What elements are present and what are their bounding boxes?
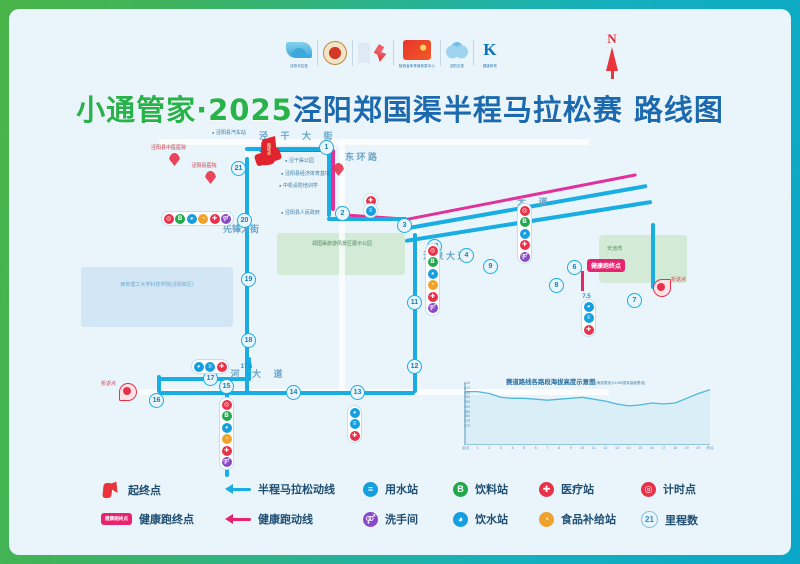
route-blue-seg bbox=[327, 147, 331, 217]
water-use-icon: ≡ bbox=[363, 482, 378, 497]
legend-medical: ✚ 医疗站 bbox=[539, 481, 594, 497]
legend-health-finish: 健康跑终点 健康跑终点 bbox=[101, 511, 194, 527]
legend-distance-marker: 21 里程数 bbox=[641, 511, 698, 528]
chart-x-tick: 19 bbox=[685, 446, 689, 450]
poi-hospital-county: 泾阳县医院 bbox=[189, 163, 219, 169]
road-strip bbox=[339, 141, 345, 397]
restroom-icon[interactable]: ⚤ bbox=[222, 457, 232, 467]
timing-icon[interactable]: ◎ bbox=[164, 214, 174, 224]
water-drop-icon[interactable]: ◕ bbox=[194, 362, 204, 372]
timing-icon[interactable]: ◎ bbox=[222, 400, 232, 410]
legend-health-run: 健康跑动线 bbox=[225, 511, 313, 527]
food-icon[interactable]: ◔ bbox=[428, 280, 438, 290]
chart-x-tick: 1 bbox=[477, 446, 479, 450]
km-marker[interactable]: 13 bbox=[350, 385, 365, 400]
timing-icon[interactable]: ◎ bbox=[428, 246, 438, 256]
wave-mark-icon bbox=[286, 39, 312, 61]
chart-x-tick: 16 bbox=[650, 446, 654, 450]
elevation-line-svg bbox=[466, 383, 710, 445]
jingyang-marathon-logo: 泾阳马拉松 bbox=[281, 32, 317, 74]
road-strip bbox=[159, 139, 589, 145]
blue-arrow-icon bbox=[225, 483, 251, 495]
km-marker[interactable]: 14 bbox=[286, 385, 301, 400]
service-strip-km13[interactable]: ◕ ≡ ✚ bbox=[347, 405, 362, 443]
chart-x-tick: 9 bbox=[570, 446, 572, 450]
title-part-1: 小通管家·2025 bbox=[76, 93, 293, 127]
sponsor-logo-row: 泾阳马拉松 陕西省体育局竞赛中心 泾阳文旅 K 健康体育 bbox=[281, 31, 543, 75]
chart-x-tick: 6 bbox=[535, 446, 537, 450]
legend-label: 洗手间 bbox=[385, 511, 418, 527]
legend-label: 半程马拉松动线 bbox=[258, 481, 335, 497]
legend-water-station: ◕ 饮水站 bbox=[453, 511, 508, 527]
restroom-icon[interactable]: ⚤ bbox=[221, 214, 231, 224]
compass-stem bbox=[611, 69, 614, 79]
route-blue-seg bbox=[159, 377, 209, 381]
page-title: 小通管家·2025泾阳郑国渠半程马拉松赛 路线图 bbox=[9, 87, 791, 129]
hospital-pin-icon bbox=[205, 171, 216, 184]
km-marker[interactable]: 3 bbox=[397, 218, 412, 233]
food-icon[interactable]: ◔ bbox=[222, 434, 232, 444]
chart-x-tick: 2 bbox=[488, 446, 490, 450]
legend-label: 起终点 bbox=[128, 482, 161, 498]
km-marker[interactable]: 2 bbox=[335, 206, 350, 221]
compass-label: N bbox=[600, 31, 624, 47]
km-marker[interactable]: 15 bbox=[219, 379, 234, 394]
jingyang-culture-tourism-logo: 泾阳文旅 bbox=[441, 32, 473, 74]
medical-cross-icon[interactable]: ✚ bbox=[520, 240, 530, 250]
legend-food-supply: ◔ 食品补给站 bbox=[539, 511, 616, 527]
water-use-icon[interactable]: ≡ bbox=[350, 419, 360, 429]
legend-label: 里程数 bbox=[665, 512, 698, 528]
drink-icon[interactable]: B bbox=[428, 257, 438, 267]
athletics-association-seal-logo bbox=[318, 32, 352, 74]
cloud-icon bbox=[446, 39, 468, 61]
water-use-icon[interactable]: ≡ bbox=[366, 206, 376, 216]
organizer-red-logo: 陕西省体育局竞赛中心 bbox=[394, 32, 440, 74]
title-part-2: 泾阳郑国渠半程马拉松赛 路线图 bbox=[293, 93, 724, 127]
poi-hospital-tcm: 泾阳县中医医院 bbox=[151, 145, 185, 151]
poi-government: 泾阳县人民政府 bbox=[281, 209, 320, 216]
poi-green-park: 郑国渠旅游风景区展示公园 bbox=[301, 241, 383, 248]
compass-arrow-icon bbox=[606, 47, 618, 71]
chart-x-tick: 14 bbox=[627, 446, 631, 450]
chart-x-tick: 13 bbox=[615, 446, 619, 450]
chart-x-tick: 20 bbox=[696, 446, 700, 450]
medical-cross-icon[interactable]: ✚ bbox=[584, 325, 594, 335]
route-blue-seg bbox=[157, 375, 161, 393]
chart-x-tick: 起点 bbox=[462, 446, 469, 451]
medical-cross-icon[interactable]: ✚ bbox=[428, 292, 438, 302]
legend-label: 饮水站 bbox=[475, 511, 508, 527]
legend-label: 食品补给站 bbox=[561, 511, 616, 527]
timing-icon: ◎ bbox=[641, 482, 656, 497]
service-strip-km5[interactable]: ◎ B ◕ ✚ ⚤ bbox=[517, 203, 532, 264]
chart-x-tick: 17 bbox=[662, 446, 666, 450]
campus-area bbox=[81, 267, 233, 327]
poi-museum: 中机设防培训学 bbox=[279, 182, 318, 189]
service-strip-km2b[interactable]: ≡ bbox=[363, 203, 378, 218]
chart-plot-area bbox=[466, 383, 710, 445]
km-marker[interactable]: 12 bbox=[407, 359, 422, 374]
legend-drink-station: B 饮料站 bbox=[453, 481, 508, 497]
start-arrow-icon bbox=[101, 481, 121, 499]
km-marker[interactable]: 19 bbox=[241, 272, 256, 287]
drink-icon[interactable]: B bbox=[222, 411, 232, 421]
medical-cross-icon[interactable]: ✚ bbox=[217, 362, 227, 372]
map-legend: 起终点 健康跑终点 健康跑终点 半程马拉松动线 健康跑动线 ≡ 用水站 ⚤ 洗手… bbox=[101, 477, 721, 539]
chart-x-tick: 12 bbox=[603, 446, 607, 450]
water-drop-icon[interactable]: ◕ bbox=[187, 214, 197, 224]
legend-timing-point: ◎ 计时点 bbox=[641, 481, 696, 497]
start-finish-label: 起终点 bbox=[266, 143, 272, 155]
legend-label: 计时点 bbox=[663, 481, 696, 497]
food-icon[interactable]: ◔ bbox=[198, 214, 208, 224]
hospital-pin-icon bbox=[169, 153, 180, 166]
turnaround-point-right[interactable] bbox=[653, 279, 671, 295]
km-marker-half[interactable]: 17.5 bbox=[241, 361, 252, 372]
finish-badge-stem bbox=[581, 271, 584, 291]
food-icon: ◔ bbox=[539, 512, 554, 527]
seal-icon bbox=[323, 42, 347, 64]
water-drop-icon[interactable]: ◕ bbox=[350, 408, 360, 418]
km-marker[interactable]: 18 bbox=[241, 333, 256, 348]
poi-blue-school: 西安理工大学科技学院(泾阳校区) bbox=[91, 281, 223, 289]
poi-green-right: 天池湾 bbox=[607, 245, 622, 252]
km-marker[interactable]: 7 bbox=[627, 293, 642, 308]
restroom-icon: ⚤ bbox=[363, 512, 378, 527]
compass-north: N bbox=[600, 31, 624, 91]
medical-cross-icon[interactable]: ✚ bbox=[222, 446, 232, 456]
legend-label: 健康跑动线 bbox=[258, 511, 313, 527]
china-athletics-logo bbox=[353, 32, 393, 74]
km-bubble-icon: 21 bbox=[641, 511, 658, 528]
legend-label: 医疗站 bbox=[561, 481, 594, 497]
drink-icon: B bbox=[453, 482, 468, 497]
medical-cross-icon: ✚ bbox=[539, 482, 554, 497]
restroom-icon[interactable]: ⚤ bbox=[428, 303, 438, 313]
water-use-icon[interactable]: ≡ bbox=[584, 313, 594, 323]
road-label-east-ring: 东 环 路 bbox=[345, 151, 353, 163]
medical-cross-icon[interactable]: ✚ bbox=[350, 431, 360, 441]
k-letter-icon: K bbox=[479, 39, 501, 61]
chart-x-tick: 终点 bbox=[706, 446, 713, 451]
km-marker[interactable]: 21 bbox=[231, 161, 246, 176]
legend-label: 用水站 bbox=[385, 481, 418, 497]
poster-frame: 泾阳马拉松 陕西省体育局竞赛中心 泾阳文旅 K 健康体育 小通管家·2025泾阳… bbox=[9, 9, 791, 555]
service-strip-km10[interactable]: ◎ B ◕ ◔ ✚ ⚤ bbox=[425, 243, 440, 316]
logo-caption: 健康体育 bbox=[483, 63, 497, 68]
drink-icon[interactable]: B bbox=[175, 214, 185, 224]
finish-badge-icon: 健康跑终点 bbox=[101, 513, 132, 525]
chart-x-tick: 10 bbox=[580, 446, 584, 450]
water-drop-icon[interactable]: ◕ bbox=[428, 269, 438, 279]
logo-caption: 陕西省体育局竞赛中心 bbox=[399, 63, 435, 68]
medical-cross-icon[interactable]: ✚ bbox=[210, 214, 220, 224]
runner-icon bbox=[358, 42, 388, 64]
logo-caption: 泾阳文旅 bbox=[450, 63, 464, 68]
water-use-icon[interactable]: ≡ bbox=[205, 362, 215, 372]
chart-x-tick: 11 bbox=[592, 446, 596, 450]
elevation-chart: 赛道路线各路段海拔高度示意图(海拔基准为1985国家高程基准) 41541040… bbox=[430, 371, 720, 463]
chart-x-tick: 3 bbox=[500, 446, 502, 450]
legend-half-marathon: 半程马拉松动线 bbox=[225, 481, 335, 497]
start-finish-marker[interactable]: 起终点 bbox=[253, 135, 289, 171]
poi-bus-station: 泾阳县汽车站 bbox=[212, 129, 246, 136]
timing-icon[interactable]: ◎ bbox=[520, 206, 530, 216]
km-marker[interactable]: 11 bbox=[407, 295, 422, 310]
route-health-seg bbox=[331, 149, 335, 211]
water-drop-icon[interactable]: ◕ bbox=[222, 423, 232, 433]
service-strip-km20[interactable]: ◎ B ◕ ◔ ✚ ⚤ bbox=[161, 211, 234, 226]
drink-icon[interactable]: B bbox=[520, 217, 530, 227]
logo-caption: 泾阳马拉松 bbox=[290, 63, 308, 68]
km-marker[interactable]: 8 bbox=[549, 278, 564, 293]
km-marker[interactable]: 4 bbox=[459, 248, 474, 263]
restroom-icon[interactable]: ⚤ bbox=[520, 252, 530, 262]
legend-label: 饮料站 bbox=[475, 481, 508, 497]
health-run-finish-badge[interactable]: 健康跑终点 bbox=[587, 259, 625, 272]
service-strip-km7-5[interactable]: ◕ ≡ ✚ bbox=[581, 299, 596, 337]
chart-x-tick: 5 bbox=[523, 446, 525, 450]
service-strip-km15[interactable]: ◎ B ◕ ◔ ✚ ⚤ bbox=[219, 397, 234, 470]
poi-jingganqu-park: 泾干渠公园 bbox=[285, 157, 314, 164]
legend-water-use: ≡ 用水站 bbox=[363, 481, 418, 497]
legend-label: 健康跑终点 bbox=[139, 511, 194, 527]
chart-x-tick: 7 bbox=[546, 446, 548, 450]
chart-x-tick: 18 bbox=[673, 446, 677, 450]
water-drop-icon: ◕ bbox=[453, 512, 468, 527]
legend-start-finish: 起终点 bbox=[101, 481, 161, 499]
chart-x-tick: 8 bbox=[558, 446, 560, 450]
km-marker[interactable]: 9 bbox=[483, 259, 498, 274]
km-marker[interactable]: 16 bbox=[149, 393, 164, 408]
turnaround-label-right: 折返点 bbox=[671, 277, 679, 283]
service-strip-km17[interactable]: ◕ ≡ ✚ bbox=[191, 359, 229, 374]
pink-arrow-icon bbox=[225, 513, 251, 525]
chart-x-tick: 15 bbox=[638, 446, 642, 450]
km-marker[interactable]: 6 bbox=[567, 260, 582, 275]
legend-restroom: ⚤ 洗手间 bbox=[363, 511, 418, 527]
jiankang-tiyu-logo: K 健康体育 bbox=[474, 32, 506, 74]
turnaround-point-left[interactable] bbox=[119, 383, 137, 399]
chart-x-tick: 4 bbox=[511, 446, 513, 450]
km-marker[interactable]: 20 bbox=[237, 213, 252, 228]
km-marker[interactable]: 1 bbox=[319, 140, 334, 155]
turnaround-label-left: 折返点 bbox=[101, 381, 109, 387]
water-drop-icon[interactable]: ◕ bbox=[520, 229, 530, 239]
poi-sports-center: 泾阳县经济体育基地 bbox=[281, 170, 330, 177]
water-drop-icon[interactable]: ◕ bbox=[584, 302, 594, 312]
red-emblem-icon bbox=[403, 39, 431, 61]
